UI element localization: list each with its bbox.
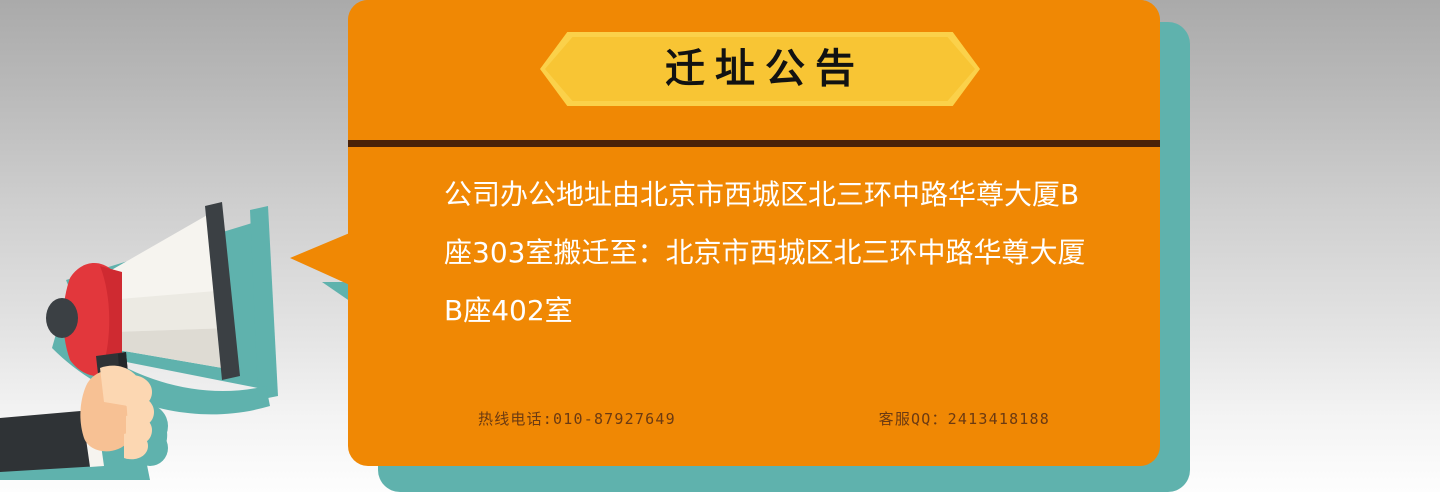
announcement-banner: 迁址公告 公司办公地址由北京市西城区北三环中路华尊大厦B座303室搬迁至：北京市… [0,0,1440,492]
page-title: 迁址公告 [540,32,980,106]
announcement-body: 公司办公地址由北京市西城区北三环中路华尊大厦B座303室搬迁至：北京市西城区北三… [444,166,1088,340]
announcement-card-top [348,0,1160,26]
hotline-text: 热线电话:010-87927649 [478,408,676,429]
speech-tail [290,232,352,286]
title-divider [348,140,1160,147]
contact-footer: 热线电话:010-87927649 客服QQ：2413418188 [444,408,1088,429]
qq-text: 客服QQ：2413418188 [879,408,1050,429]
megaphone-cap-icon [46,298,78,338]
megaphone-illustration [0,180,330,492]
title-ribbon: 迁址公告 [540,32,980,106]
hand-icon [80,366,154,460]
